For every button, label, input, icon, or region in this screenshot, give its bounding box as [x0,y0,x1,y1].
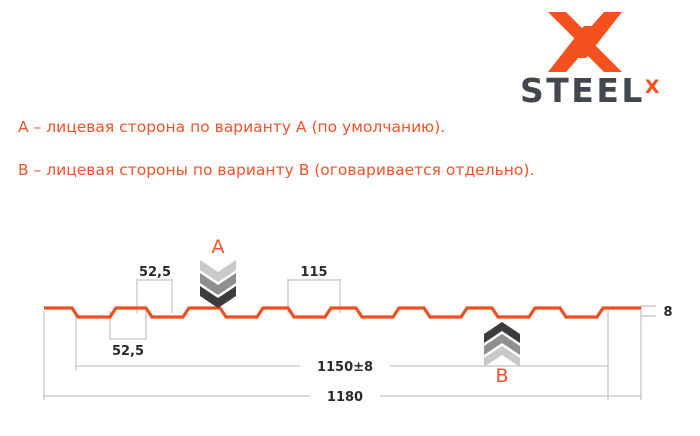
dimension-label-pitch: 115 [300,265,327,280]
profile-technical-drawing: 52,5 52,5 115 8 1150±8 1180 [0,0,700,436]
marker-a-letter: A [196,238,240,257]
marker-b-letter: B [480,367,524,386]
dimension-label-total-width: 1180 [327,390,363,405]
marker-variant-b: B [480,322,524,384]
chevron-down-icon [200,260,236,313]
dimension-label-rib-top: 52,5 [139,265,171,280]
dimension-label-rib-bottom: 52,5 [112,344,144,359]
profile-cross-section [44,308,641,317]
dimension-label-useful-width: 1150±8 [317,360,373,375]
chevron-up-icon [484,322,520,371]
dimension-lines [44,279,656,400]
dimension-label-height: 8 [663,305,672,320]
marker-variant-a: A [196,238,240,310]
